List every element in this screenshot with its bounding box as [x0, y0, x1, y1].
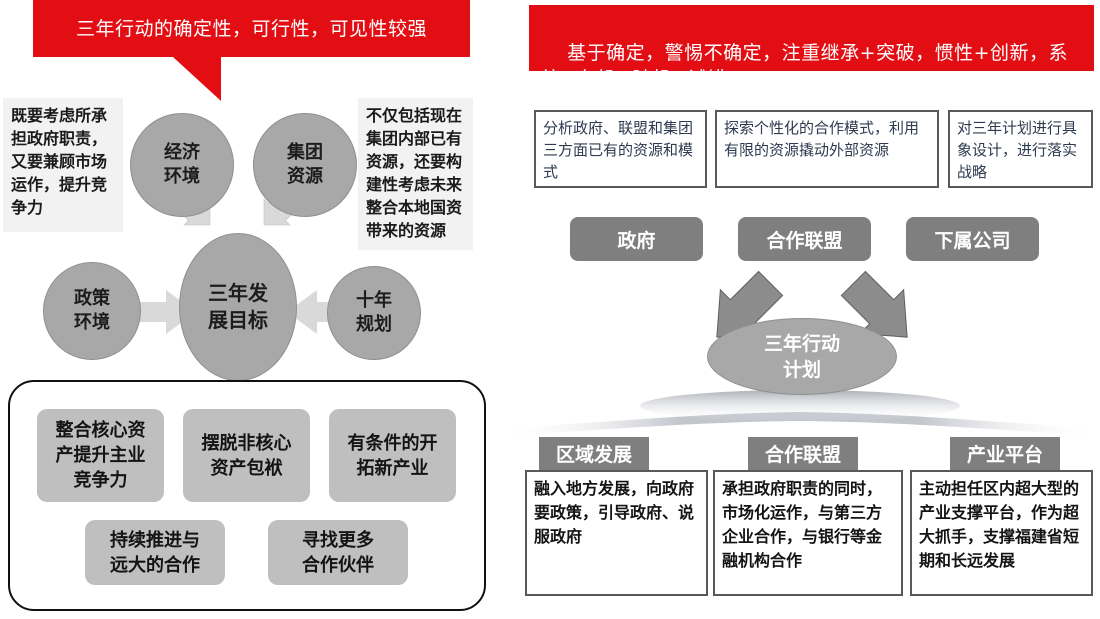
tab-industry-platform[interactable]: 产业平台: [950, 437, 1060, 470]
chip-shed-noncore-assets[interactable]: 摆脱非核心 资产包袱: [183, 409, 310, 502]
right-banner: 基于确定，警惕不确定，注重继承+突破，惯性+创新，系统+有机+随机+试错: [529, 5, 1094, 71]
note-right-box: 不仅包括现在集团内部已有资源，还要构建性考虑未来整合本地国资带来的资源: [358, 98, 473, 250]
box-explore-text: 探索个性化的合作模式，利用有限的资源撬动外部资源: [724, 119, 919, 159]
outcome-region-box[interactable]: 融入地方发展，向政府要政策，引导政府、说服政府: [525, 470, 708, 596]
tab-region-label: 区域发展: [556, 440, 632, 467]
pill-government[interactable]: 政府: [570, 217, 703, 261]
note-left-box: 既要考虑所承担政府职责，又要兼顾市场运作，提升竞争力: [3, 98, 123, 232]
note-right-text: 不仅包括现在集团内部已有资源，还要构建性考虑未来整合本地国资带来的资源: [366, 106, 462, 240]
box-design-text: 对三年计划进行具象设计，进行落实战略: [957, 119, 1077, 181]
left-banner-text: 三年行动的确定性，可行性，可见性较强: [33, 0, 470, 57]
circle-group-resources-label: 集团 资源: [287, 141, 323, 189]
ellipse-three-year-action-plan[interactable]: 三年行动 计划: [707, 318, 897, 395]
outcome-alliance-box[interactable]: 承担政府职责的同时，市场化运作，与第三方企业合作，与银行等金融机构合作: [713, 470, 903, 596]
chip-3-label: 有条件的开 拓新产业: [348, 431, 438, 481]
pill-subsidiary-label: 下属公司: [934, 226, 1010, 253]
slide-canvas: 三年行动的确定性，可行性，可见性较强 既要考虑所承担政府职责，又要兼顾市场运作，…: [0, 0, 1100, 619]
box-explore[interactable]: 探索个性化的合作模式，利用有限的资源撬动外部资源: [715, 110, 939, 188]
chip-continued-cooperation[interactable]: 持续推进与 远大的合作: [85, 520, 225, 585]
tab-cooperation-alliance[interactable]: 合作联盟: [748, 437, 858, 470]
tab-region-development[interactable]: 区域发展: [539, 437, 649, 470]
chip-1-label: 整合核心资 产提升主业 竞争力: [56, 418, 146, 493]
pill-subsidiary[interactable]: 下属公司: [906, 217, 1039, 261]
box-analyze-text: 分析政府、联盟和集团三方面已有的资源和模式: [543, 119, 693, 181]
tab-alliance-label: 合作联盟: [765, 440, 841, 467]
chip-2-label: 摆脱非核心 资产包袱: [202, 431, 292, 481]
circle-economy-label: 经济 环境: [164, 141, 200, 189]
chip-5-label: 寻找更多 合作伙伴: [302, 528, 374, 578]
box-design[interactable]: 对三年计划进行具象设计，进行落实战略: [948, 110, 1093, 188]
chip-more-partners[interactable]: 寻找更多 合作伙伴: [268, 520, 408, 585]
note-left-text: 既要考虑所承担政府职责，又要兼顾市场运作，提升竞争力: [11, 106, 107, 217]
circle-ten-year-plan-label: 十年 规划: [356, 289, 392, 337]
ellipse-three-year-goal[interactable]: 三年发 展目标: [179, 233, 297, 381]
outcome-region-text: 融入地方发展，向政府要政策，引导政府、说服政府: [534, 479, 694, 546]
box-analyze[interactable]: 分析政府、联盟和集团三方面已有的资源和模式: [534, 110, 707, 188]
circle-group-resources[interactable]: 集团 资源: [253, 113, 357, 217]
circle-economy[interactable]: 经济 环境: [130, 113, 234, 217]
pill-government-label: 政府: [617, 226, 655, 253]
ellipse-three-year-goal-label: 三年发 展目标: [208, 280, 268, 334]
pill-alliance-label: 合作联盟: [766, 226, 842, 253]
chip-new-industries[interactable]: 有条件的开 拓新产业: [329, 409, 456, 502]
outcome-platform-text: 主动担任区内超大型的产业支撑平台，作为超大抓手，支撑福建省短期和长远发展: [919, 479, 1079, 570]
chip-integrate-core-assets[interactable]: 整合核心资 产提升主业 竞争力: [37, 409, 164, 502]
outcome-alliance-text: 承担政府职责的同时，市场化运作，与第三方企业合作，与银行等金融机构合作: [722, 479, 882, 570]
circle-policy-label: 政策 环境: [74, 287, 110, 335]
tab-platform-label: 产业平台: [967, 440, 1043, 467]
pill-alliance[interactable]: 合作联盟: [738, 217, 871, 261]
ellipse-action-plan-label: 三年行动 计划: [764, 331, 840, 383]
circle-ten-year-plan[interactable]: 十年 规划: [327, 266, 421, 360]
outcome-platform-box[interactable]: 主动担任区内超大型的产业支撑平台，作为超大抓手，支撑福建省短期和长远发展: [910, 470, 1093, 596]
right-banner-text: 基于确定，警惕不确定，注重继承+突破，惯性+创新，系统+有机+随机+试错: [541, 42, 1068, 90]
circle-policy[interactable]: 政策 环境: [43, 262, 141, 360]
chip-4-label: 持续推进与 远大的合作: [110, 528, 200, 578]
